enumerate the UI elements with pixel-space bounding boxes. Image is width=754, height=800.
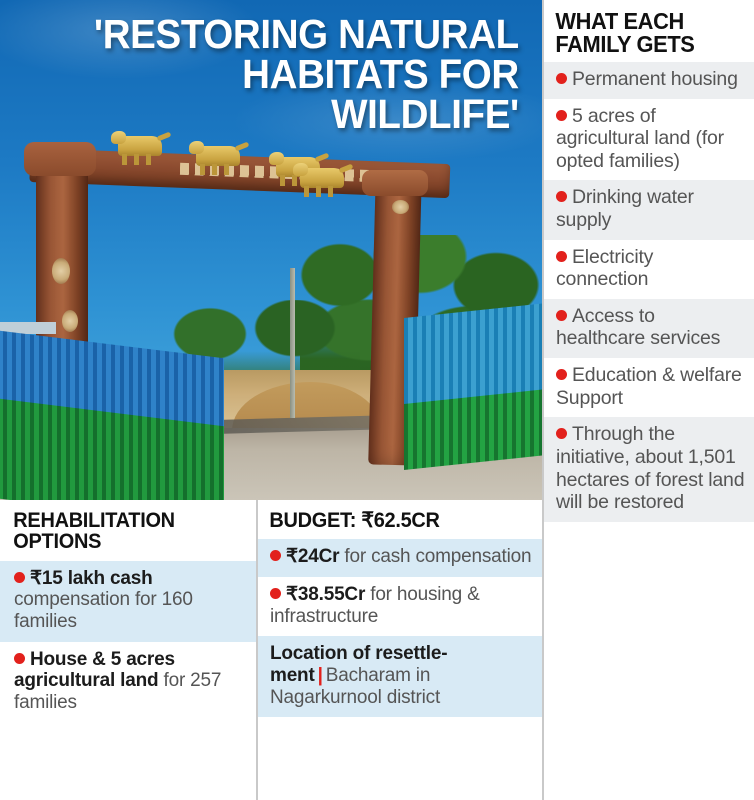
rehab-item-rest: compensation for 160 families	[14, 589, 193, 632]
what-each-family-gets-title: WHAT EACH FAMILY GETS	[544, 0, 744, 62]
hero-photo-area: 'RESTORING NATURAL HABITATS FOR WILDLIFE…	[0, 0, 542, 500]
budget-item-rest: for cash compensation	[339, 546, 531, 567]
benefit-lead: Drinking	[572, 186, 642, 208]
headline-line-1: 'RESTORING NATURAL	[32, 14, 519, 54]
benefit-lead: Through the	[572, 423, 675, 445]
family-benefit-item: Access to healthcare services	[544, 299, 754, 358]
bullet-icon	[270, 550, 281, 561]
main-column: 'RESTORING NATURAL HABITATS FOR WILDLIFE…	[0, 0, 542, 800]
tiger-sculpture	[196, 146, 240, 166]
family-benefit-item: 5 acres of agricultural land (for opted …	[544, 99, 754, 181]
resettlement-location-item: Location of resettle-ment|Bacharam in Na…	[258, 636, 542, 717]
budget-panel-title: BUDGET: ₹62.5CR	[258, 500, 528, 539]
benefit-lead: Education &	[572, 364, 675, 386]
bullet-icon	[556, 369, 567, 380]
bullet-icon	[556, 191, 567, 202]
benefit-rest: healthcare services	[556, 327, 720, 349]
benefit-rest: agricultural land (for opted families)	[556, 127, 724, 172]
what-each-family-gets-panel: WHAT EACH FAMILY GETS Permanent housing …	[542, 0, 754, 800]
benefit-lead: Electricity	[572, 246, 653, 268]
bullet-icon	[556, 251, 567, 262]
rehabilitation-options-title: REHABILITATION OPTIONS	[0, 500, 243, 561]
benefit-lead: Access to	[572, 305, 655, 327]
benefit-rest: initiative, about 1,501 hectares of fore…	[556, 446, 744, 513]
bottom-panels-row: REHABILITATION OPTIONS ₹15 lakh cash com…	[0, 500, 542, 800]
benefit-lead: 5 acres of	[572, 105, 656, 127]
wood-knot	[62, 310, 78, 332]
infographic-root: 'RESTORING NATURAL HABITATS FOR WILDLIFE…	[0, 0, 754, 800]
benefit-rest: housing	[666, 68, 738, 90]
separator-pipe: |	[315, 665, 326, 686]
rehab-item-lead: House & 5 acres agricultural land	[14, 649, 175, 692]
budget-item-lead: ₹38.55Cr	[286, 584, 365, 605]
bullet-icon	[556, 310, 567, 321]
family-benefit-item: Drinking water supply	[544, 180, 754, 239]
budget-item-lead: ₹24Cr	[286, 546, 339, 567]
budget-item: ₹38.55Cr for housing & infrastructure	[258, 577, 542, 636]
rehabilitation-option-item: House & 5 acres agricultural land for 25…	[0, 642, 256, 723]
budget-panel: BUDGET: ₹62.5CR ₹24Cr for cash compensat…	[256, 500, 542, 800]
arch-post-left-cap	[24, 142, 96, 176]
bullet-icon	[556, 428, 567, 439]
benefit-lead: Permanent	[572, 68, 666, 90]
headline-line-2: HABITATS FOR	[32, 54, 519, 94]
rehab-item-lead: ₹15 lakh cash	[30, 568, 153, 589]
bullet-icon	[556, 110, 567, 121]
family-benefit-item: Through the initiative, about 1,501 hect…	[544, 417, 754, 521]
bullet-icon	[14, 653, 25, 664]
bullet-icon	[556, 73, 567, 84]
wood-knot	[392, 200, 409, 214]
wood-knot	[52, 258, 70, 284]
tiger-sculpture	[300, 168, 344, 188]
page-title: 'RESTORING NATURAL HABITATS FOR WILDLIFE…	[32, 14, 532, 135]
family-benefit-item: Education & welfare Support	[544, 358, 754, 417]
bullet-icon	[14, 572, 25, 583]
benefit-rest: connection	[556, 268, 648, 290]
family-benefit-item: Electricity connection	[544, 240, 754, 299]
bullet-icon	[270, 588, 281, 599]
rehabilitation-option-item: ₹15 lakh cash compensation for 160 famil…	[0, 561, 256, 642]
budget-item: ₹24Cr for cash compensation	[258, 539, 542, 577]
headline-line-3: WILDLIFE'	[32, 94, 519, 134]
family-benefit-item: Permanent housing	[544, 62, 754, 99]
arch-post-right-cap	[362, 170, 428, 196]
utility-pole	[290, 268, 295, 418]
rehabilitation-options-panel: REHABILITATION OPTIONS ₹15 lakh cash com…	[0, 500, 256, 800]
tiger-sculpture	[118, 136, 162, 156]
